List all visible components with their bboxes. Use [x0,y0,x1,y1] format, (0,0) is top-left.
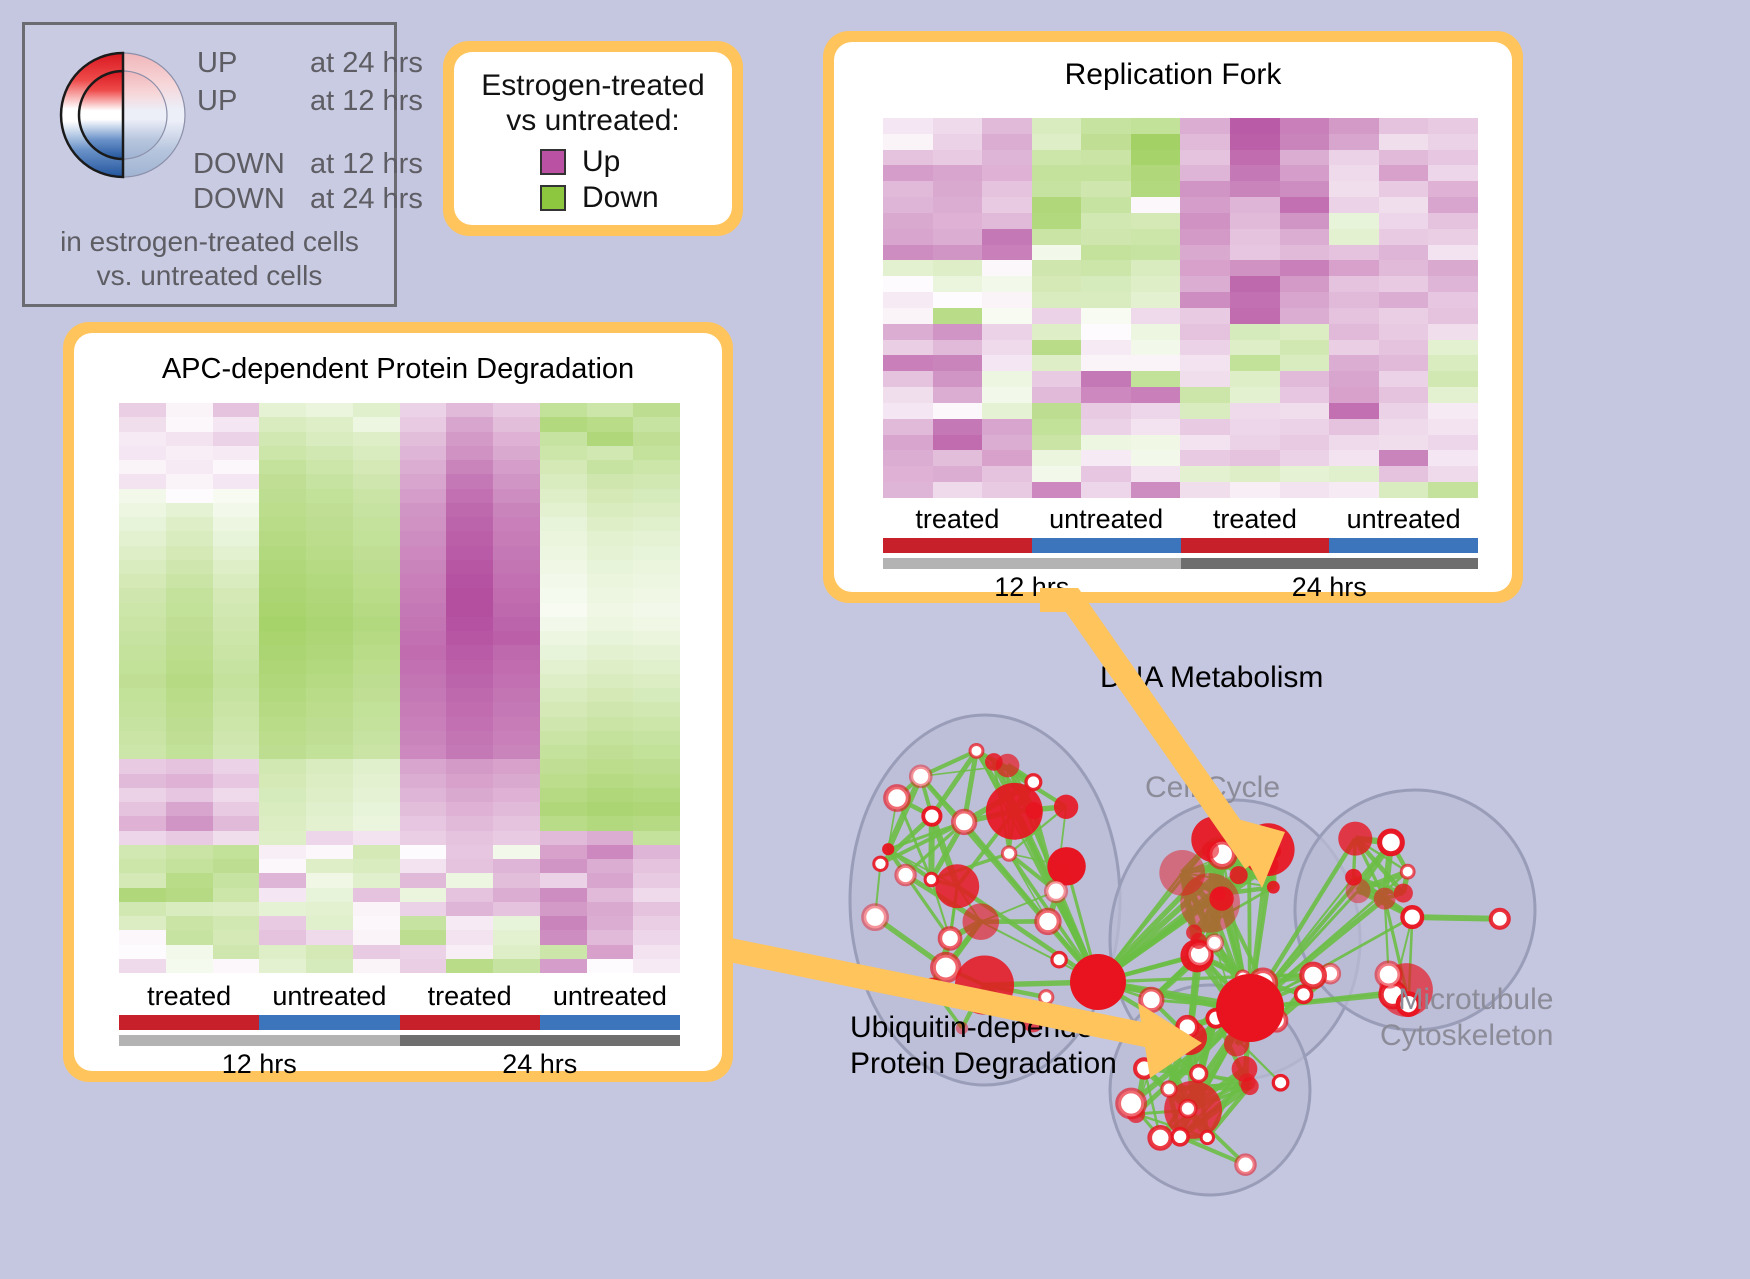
heatmap-cell [1180,229,1230,245]
legend-item-up: Up [540,145,732,179]
legend-title: Estrogen-treated vs untreated: [454,68,732,139]
group-bar [119,1015,259,1030]
heatmap-cell [400,945,447,959]
heatmap-cell [353,702,400,716]
heatmap-cell [933,419,983,435]
heatmap-cell [353,717,400,731]
heatmap-cell [446,859,493,873]
heatmap-cell [883,229,933,245]
network-node [1191,1066,1207,1082]
heatmap-cell [1032,150,1082,166]
heatmap-cell [119,674,166,688]
heatmap-cell [213,660,260,674]
heatmap-cell [353,560,400,574]
heatmap-cell [306,503,353,517]
heatmap-cell [306,788,353,802]
heatmap-cell [1329,150,1379,166]
heatmap-cell [213,674,260,688]
heatmap-cell [1428,450,1478,466]
heatmap-cell [982,435,1032,451]
heatmap-cell [982,229,1032,245]
heatmap-cell [1428,403,1478,419]
heatmap-cell [1428,276,1478,292]
network-node [1394,884,1413,903]
heatmap-cell [1032,371,1082,387]
heatmap-cell [213,688,260,702]
heatmap-cell [933,466,983,482]
heatmap-cell [353,731,400,745]
heatmap-cell [119,417,166,431]
heatmap-cell [400,831,447,845]
heatmap-cell [166,831,213,845]
heatmap-cell [353,432,400,446]
heatmap-cell [1428,340,1478,356]
heatmap-cell [306,660,353,674]
heatmap-cell [259,560,306,574]
heatmap-cell [540,432,587,446]
heatmap-cell [1131,355,1181,371]
group-bar [400,1015,540,1030]
heatmap-cell [1081,229,1131,245]
heatmap-cell [587,702,634,716]
heatmap-cell [1180,245,1230,261]
heatmap-cell [1428,355,1478,371]
network-node [962,903,999,940]
heatmap-cell [1280,181,1330,197]
wheel-footer-line1: in estrogen-treated cells [25,225,394,259]
heatmap-cell [982,419,1032,435]
heatmap-cell [1032,165,1082,181]
legend-item-up-label: Up [582,145,620,179]
heatmap-cell [259,531,306,545]
heatmap-cell [446,831,493,845]
heatmap-cell [1081,213,1131,229]
network-node [1177,1017,1197,1037]
heatmap-cell [1180,403,1230,419]
heatmap-cell [933,371,983,387]
heatmap-cell [982,387,1032,403]
network-node [1190,933,1206,949]
heatmap-cell [493,916,540,930]
heatmap-cell [166,688,213,702]
heatmap-cell [166,446,213,460]
heatmap-cell [166,745,213,759]
heatmap-cell [306,916,353,930]
heatmap-cell [119,617,166,631]
heatmap-cell [353,546,400,560]
heatmap-cell [1329,355,1379,371]
heatmap-cell [587,588,634,602]
heatmap-cell [1230,308,1280,324]
heatmap-cell [1379,260,1429,276]
heatmap-cell [166,774,213,788]
heatmap-cell [400,674,447,688]
heatmap-cell [259,688,306,702]
heatmap-cell [259,503,306,517]
heatmap-cell [1329,403,1379,419]
heatmap-cell [883,324,933,340]
heatmap-cell [259,702,306,716]
network-node [1267,881,1280,894]
heatmap-cell [1180,308,1230,324]
heatmap-cell [1379,292,1429,308]
heatmap-cell [883,181,933,197]
network-node [1026,775,1041,790]
heatmap-cell [982,324,1032,340]
heatmap-cell [1428,292,1478,308]
heatmap-cell [1180,165,1230,181]
heatmap-cell [166,859,213,873]
heatmap-cell [883,482,933,498]
heatmap-cell [1180,466,1230,482]
heatmap-cell [213,489,260,503]
heatmap-cell [1032,245,1082,261]
heatmap-cell [1280,482,1330,498]
heatmap-cell [400,888,447,902]
heatmap-cell [933,260,983,276]
heatmap-cell [119,474,166,488]
heatmap-cell [1379,466,1429,482]
heatmap-cell [1280,435,1330,451]
heatmap-cell [353,902,400,916]
heatmap-cell [982,292,1032,308]
heatmap-cell [933,181,983,197]
heatmap-cell [446,788,493,802]
network-node [1302,964,1325,987]
heatmap-cell [493,873,540,887]
heatmap-cell [213,759,260,773]
heatmap-cell [493,902,540,916]
heatmap-cell [119,588,166,602]
replication-fork-time-bars [883,558,1478,569]
heatmap-cell [1081,419,1131,435]
wheel-row-0-time: at 24 hrs [310,47,423,80]
heatmap-cell [1280,419,1330,435]
heatmap-cell [587,617,634,631]
heatmap-cell [493,603,540,617]
heatmap-cell [400,403,447,417]
heatmap-cell [1032,118,1082,134]
heatmap-cell [213,503,260,517]
heatmap-cell [213,546,260,560]
heatmap-cell [446,802,493,816]
heatmap-cell [1379,355,1429,371]
heatmap-cell [166,460,213,474]
heatmap-cell [400,603,447,617]
heatmap-cell [1081,371,1131,387]
heatmap-cell [400,788,447,802]
heatmap-cell [540,474,587,488]
heatmap-cell [1280,197,1330,213]
network-node [1374,888,1396,910]
updown-legend-panel: Estrogen-treated vs untreated: Up Down [443,41,743,236]
heatmap-cell [1379,118,1429,134]
heatmap-cell [1180,355,1230,371]
group-label: untreated [259,981,399,1012]
heatmap-cell [1379,435,1429,451]
heatmap-cell [933,435,983,451]
heatmap-cell [166,731,213,745]
time-bar [400,1035,681,1046]
group-label: treated [1181,504,1330,535]
network-node [924,979,940,995]
heatmap-cell [540,717,587,731]
heatmap-cell [1428,260,1478,276]
network-node [1054,795,1078,819]
heatmap-cell [1230,245,1280,261]
heatmap-cell [1428,435,1478,451]
network-node [935,864,979,908]
heatmap-cell [446,645,493,659]
heatmap-cell [1230,276,1280,292]
heatmap-cell [1379,387,1429,403]
heatmap-cell [400,902,447,916]
heatmap-cell [633,674,680,688]
heatmap-cell [1230,150,1280,166]
heatmap-cell [119,745,166,759]
heatmap-cell [119,888,166,902]
heatmap-cell [933,276,983,292]
heatmap-cell [933,134,983,150]
heatmap-cell [493,745,540,759]
heatmap-cell [259,546,306,560]
heatmap-cell [883,355,933,371]
heatmap-cell [119,702,166,716]
network-node [1230,866,1248,884]
heatmap-cell [633,660,680,674]
heatmap-cell [259,574,306,588]
heatmap-cell [213,446,260,460]
heatmap-cell [259,859,306,873]
heatmap-cell [446,631,493,645]
heatmap-cell [306,959,353,973]
heatmap-cell [1081,482,1131,498]
network-node [1380,831,1403,854]
heatmap-cell [1032,466,1082,482]
heatmap-cell [540,702,587,716]
heatmap-cell [306,631,353,645]
heatmap-cell [587,802,634,816]
heatmap-cell [1131,197,1181,213]
heatmap-cell [1280,308,1330,324]
network-node [1216,974,1284,1042]
heatmap-cell [166,702,213,716]
heatmap-cell [587,959,634,973]
heatmap-cell [1379,165,1429,181]
heatmap-cell [259,759,306,773]
heatmap-cell [166,503,213,517]
heatmap-cell [540,674,587,688]
heatmap-cell [400,745,447,759]
heatmap-cell [213,788,260,802]
heatmap-cell [259,588,306,602]
heatmap-cell [493,546,540,560]
network-node [1401,865,1414,878]
heatmap-cell [933,450,983,466]
heatmap-cell [166,517,213,531]
heatmap-cell [587,930,634,944]
heatmap-cell [1131,292,1181,308]
heatmap-cell [540,802,587,816]
heatmap-cell [540,503,587,517]
time-label: 12 hrs [119,1049,400,1080]
heatmap-cell [166,717,213,731]
heatmap-cell [633,902,680,916]
heatmap-cell [446,759,493,773]
heatmap-cell [119,489,166,503]
heatmap-cell [119,403,166,417]
heatmap-cell [446,432,493,446]
heatmap-cell [933,165,983,181]
heatmap-cell [933,245,983,261]
heatmap-cell [493,403,540,417]
heatmap-cell [633,474,680,488]
network-node [1180,1101,1196,1117]
heatmap-cell [446,745,493,759]
heatmap-cell [259,617,306,631]
network-node [911,767,930,786]
heatmap-cell [540,831,587,845]
heatmap-cell [633,403,680,417]
heatmap-cell [213,531,260,545]
heatmap-cell [166,888,213,902]
heatmap-cell [306,845,353,859]
heatmap-cell [587,417,634,431]
heatmap-cell [1230,260,1280,276]
heatmap-cell [213,859,260,873]
replication-fork-panel: Replication Fork treated untreated treat… [823,31,1523,603]
heatmap-cell [587,745,634,759]
time-label: 12 hrs [883,572,1181,603]
heatmap-cell [540,916,587,930]
network-node [882,843,894,855]
heatmap-cell [306,617,353,631]
heatmap-cell [259,774,306,788]
heatmap-cell [633,588,680,602]
heatmap-cell [1379,324,1429,340]
up-swatch-icon [540,149,566,175]
apc-degradation-heatmap [119,403,680,973]
heatmap-cell [1131,165,1181,181]
heatmap-cell [1180,181,1230,197]
heatmap-cell [540,759,587,773]
heatmap-cell [587,717,634,731]
heatmap-cell [883,165,933,181]
heatmap-cell [1032,260,1082,276]
heatmap-cell [982,466,1032,482]
heatmap-cell [1131,435,1181,451]
heatmap-cell [306,489,353,503]
legend-items: Up Down [454,145,732,215]
heatmap-cell [587,474,634,488]
heatmap-cell [306,674,353,688]
heatmap-cell [213,902,260,916]
heatmap-cell [1280,245,1330,261]
network-node [896,866,914,884]
heatmap-cell [446,660,493,674]
heatmap-cell [400,930,447,944]
heatmap-cell [1180,134,1230,150]
cluster-label-ubiquitin-degradation: Ubiquitin-dependentProtein Degradation [850,1010,1119,1082]
heatmap-cell [587,403,634,417]
apc-time-bars [119,1035,680,1046]
heatmap-cell [1032,181,1082,197]
heatmap-cell [446,959,493,973]
wheel-row-1-time: at 12 hrs [310,85,423,118]
heatmap-cell [446,902,493,916]
heatmap-cell [400,503,447,517]
heatmap-cell [400,845,447,859]
network-node [1040,991,1053,1004]
network-node [1162,1082,1176,1096]
heatmap-cell [1329,340,1379,356]
heatmap-cell [1180,371,1230,387]
heatmap-cell [400,759,447,773]
apc-group-bars [119,1015,680,1030]
heatmap-cell [1081,324,1131,340]
heatmap-cell [259,959,306,973]
heatmap-cell [493,560,540,574]
heatmap-cell [353,603,400,617]
heatmap-cell [982,450,1032,466]
group-bar [883,538,1032,553]
heatmap-cell [213,417,260,431]
heatmap-cell [587,902,634,916]
heatmap-cell [353,845,400,859]
heatmap-cell [1081,355,1131,371]
heatmap-cell [1032,324,1082,340]
heatmap-cell [1329,134,1379,150]
heatmap-cell [493,631,540,645]
heatmap-cell [213,702,260,716]
heatmap-cell [587,660,634,674]
heatmap-cell [1230,450,1280,466]
heatmap-cell [213,845,260,859]
heatmap-cell [119,603,166,617]
heatmap-cell [1428,229,1478,245]
heatmap-cell [1032,387,1082,403]
heatmap-cell [353,446,400,460]
heatmap-cell [1329,292,1379,308]
heatmap-cell [540,788,587,802]
group-bar [1032,538,1181,553]
heatmap-cell [540,517,587,531]
heatmap-cell [353,660,400,674]
heatmap-cell [1379,213,1429,229]
heatmap-cell [400,802,447,816]
heatmap-cell [540,845,587,859]
heatmap-cell [933,387,983,403]
heatmap-cell [633,688,680,702]
heatmap-cell [259,745,306,759]
heatmap-cell [883,435,933,451]
heatmap-cell [1280,165,1330,181]
heatmap-cell [446,560,493,574]
heatmap-cell [446,460,493,474]
heatmap-cell [1428,419,1478,435]
network-node [953,811,975,833]
heatmap-cell [446,731,493,745]
heatmap-cell [119,432,166,446]
heatmap-cell [259,916,306,930]
heatmap-cell [400,617,447,631]
heatmap-cell [353,631,400,645]
heatmap-cell [213,930,260,944]
heatmap-cell [1180,118,1230,134]
heatmap-cell [446,546,493,560]
heatmap-cell [1329,118,1379,134]
heatmap-cell [446,446,493,460]
